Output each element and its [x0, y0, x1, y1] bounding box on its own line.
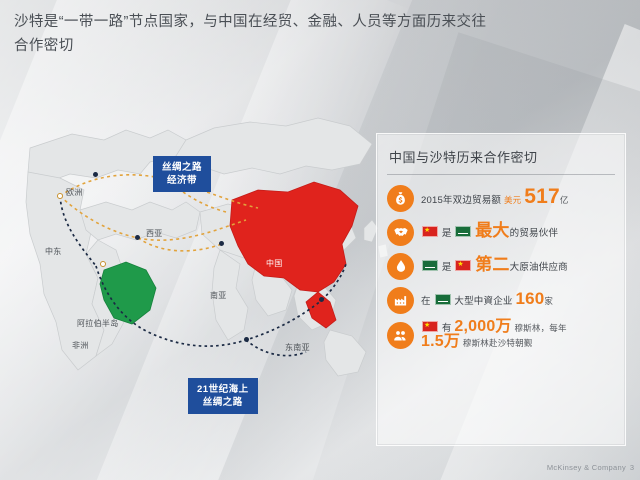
enterprises-mid: 大型中資企业	[454, 296, 512, 307]
panel-row-largest-trade-partner: 是 最大的贸易伙伴	[377, 215, 625, 249]
panel-row-muslim-population-text: 有 2,000万 穆斯林，每年 1.5万 穆斯林赴沙特朝觐	[421, 320, 567, 350]
route-node-moscow	[93, 172, 98, 177]
page-number: 3	[630, 463, 634, 472]
callout-silk-road-belt-line2: 经济带	[162, 174, 202, 187]
route-node-europe	[57, 193, 63, 199]
info-panel: 中国与沙特历来合作密切 2015年双边贸易额 美元 517亿 是 最大的贸易伙伴	[376, 133, 626, 446]
flag-china-icon	[422, 226, 438, 237]
muslim-post-2: 穆斯林赴沙特朝觐	[463, 338, 533, 348]
largest-partner-post: 的贸易伙伴	[510, 228, 559, 239]
callout-silk-road-belt-line1: 丝绸之路	[162, 161, 202, 174]
enterprises-suffix: 家	[544, 296, 553, 306]
flag-china-icon	[422, 321, 438, 332]
footer-brand: McKinsey & Company	[547, 463, 626, 472]
muslim-value: 2,000万	[454, 318, 511, 335]
handshake-icon	[387, 219, 414, 246]
world-map: 欧洲 中亚 西亚 中东 南亚 中国 阿拉伯半岛 东南亚 非洲 丝绸之路 经济带 …	[0, 78, 400, 458]
callout-maritime-silk-road-line1: 21世纪海上	[197, 383, 249, 396]
title-line-1: 沙特是“一带一路”节点国家，与中国在经贸、金融、人员等方面历来交往	[14, 14, 486, 30]
callout-maritime-silk-road-line2: 丝绸之路	[197, 396, 249, 409]
oil-drop-icon	[387, 253, 414, 280]
map-label-middle-east: 中东	[45, 246, 62, 257]
map-label-southeast-asia: 东南亚	[285, 342, 310, 353]
muslim-value-2: 1.5万	[421, 333, 460, 350]
map-label-south-asia: 南亚	[210, 290, 227, 301]
flag-saudi-icon	[435, 294, 451, 305]
panel-row-second-oil-supplier: 是 第二大原油供应商	[377, 249, 625, 283]
panel-row-chinese-enterprises: 在 大型中資企业 160家	[377, 283, 625, 317]
route-node-southeast-asia	[244, 337, 249, 342]
panel-heading: 中国与沙特历来合作密切	[377, 134, 625, 174]
map-label-europe: 欧洲	[66, 187, 83, 198]
slide-canvas: 沙特是“一带一路”节点国家，与中国在经贸、金融、人员等方面历来交往 合作密切	[0, 0, 640, 480]
panel-row-second-oil-supplier-text: 是 第二大原油供应商	[421, 258, 568, 274]
route-node-china-coast	[319, 297, 324, 302]
muslim-post: 穆斯林，每年	[514, 323, 566, 333]
trade-volume-unit: 美元	[504, 195, 521, 205]
route-node-south-asia	[219, 241, 224, 246]
panel-row-muslim-population: 有 2,000万 穆斯林，每年 1.5万 穆斯林赴沙特朝觐	[377, 317, 625, 353]
largest-partner-mid: 是	[442, 228, 452, 239]
trade-volume-suffix: 亿	[560, 195, 569, 205]
route-node-west-asia	[135, 235, 140, 240]
title-line-2: 合作密切	[14, 34, 626, 58]
china-region	[230, 182, 358, 328]
enterprises-value: 160	[515, 289, 544, 308]
trade-volume-prefix: 2015年双边贸易额	[421, 195, 501, 206]
callout-maritime-silk-road: 21世纪海上 丝绸之路	[188, 378, 258, 414]
panel-row-trade-volume-text: 2015年双边贸易额 美元 517亿	[421, 190, 569, 207]
factory-icon	[387, 287, 414, 314]
panel-row-trade-volume: 2015年双边贸易额 美元 517亿	[377, 181, 625, 215]
panel-divider	[387, 174, 615, 175]
oil-supplier-mid: 是	[442, 262, 452, 273]
flag-saudi-icon	[455, 226, 471, 237]
oil-supplier-post: 大原油供应商	[510, 262, 568, 273]
map-label-west-asia: 西亚	[146, 228, 163, 239]
panel-row-largest-trade-partner-text: 是 最大的贸易伙伴	[421, 224, 558, 240]
slide-title: 沙特是“一带一路”节点国家，与中国在经贸、金融、人员等方面历来交往 合作密切	[14, 10, 626, 58]
flag-china-icon	[455, 260, 471, 271]
trade-volume-value: 517	[524, 185, 560, 208]
map-label-africa: 非洲	[72, 340, 89, 351]
route-node-middle-east	[100, 261, 106, 267]
flag-saudi-icon	[422, 260, 438, 271]
people-icon	[387, 322, 414, 349]
money-bag-icon	[387, 185, 414, 212]
panel-row-chinese-enterprises-text: 在 大型中資企业 160家	[421, 292, 553, 308]
largest-partner-value: 最大	[475, 221, 509, 240]
oil-supplier-value: 第二	[475, 255, 509, 274]
callout-silk-road-belt: 丝绸之路 经济带	[153, 156, 211, 192]
enterprises-prefix: 在	[421, 296, 431, 307]
map-label-china: 中国	[266, 258, 283, 269]
map-label-arabian-peninsula: 阿拉伯半岛	[77, 318, 119, 329]
